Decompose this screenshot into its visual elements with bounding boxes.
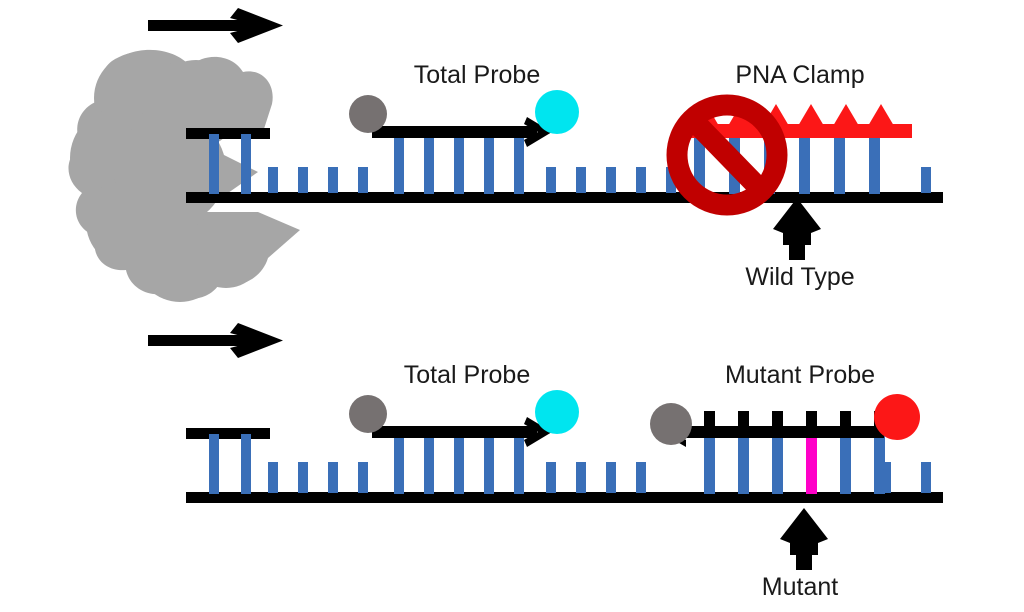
mutant-probe-quencher xyxy=(650,403,692,445)
mutant-probe-label: Mutant Probe xyxy=(725,361,875,389)
template-strand-bottom-panel xyxy=(186,492,943,503)
pna-clamp-label: PNA Clamp xyxy=(735,61,864,89)
wild-type-label: Wild Type xyxy=(745,263,854,291)
total-probe-label-bottom-panel: Total Probe xyxy=(404,361,530,389)
mutation-base-marker xyxy=(806,434,817,494)
total-probe-reporter-bottom-panel xyxy=(535,390,579,434)
total-probe-quencher-bottom-panel xyxy=(349,395,387,433)
template-strand-top-panel xyxy=(186,192,943,203)
mutant-probe-reporter xyxy=(874,394,920,440)
total-probe-label-top-panel: Total Probe xyxy=(414,61,540,89)
total-probe-backbone-top-panel xyxy=(372,126,537,138)
total-probe-backbone-bottom-panel xyxy=(372,426,537,438)
total-probe-quencher-top-panel xyxy=(349,95,387,133)
diagram-svg: Total Probe PNA Clamp xyxy=(0,0,1024,612)
mutant-probe-backbone xyxy=(686,426,884,438)
diagram-canvas: Total Probe PNA Clamp xyxy=(0,0,1024,612)
mutant-label: Mutant xyxy=(762,573,838,601)
total-probe-reporter-top-panel xyxy=(535,90,579,134)
